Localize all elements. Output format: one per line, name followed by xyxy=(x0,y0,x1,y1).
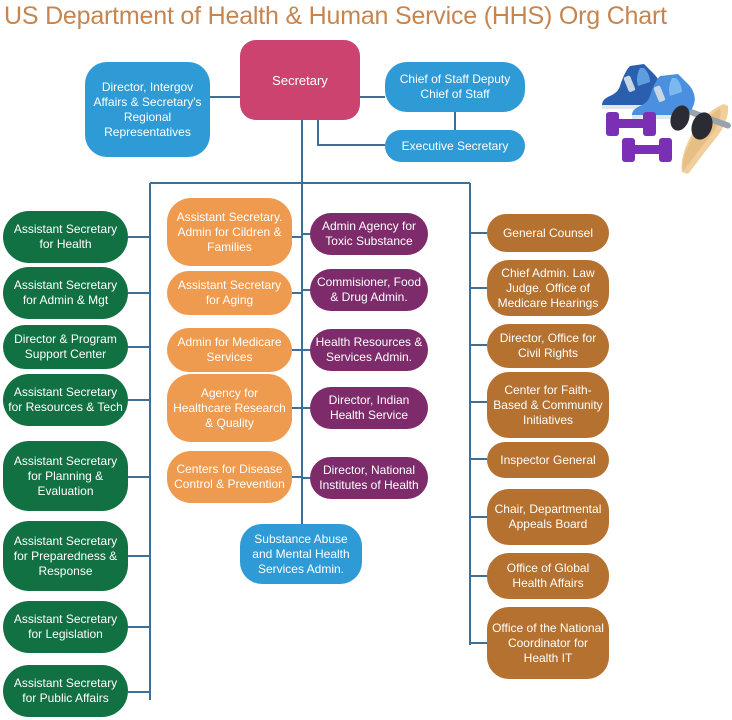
node-director-indian-health-service[interactable]: Director, Indian Health Service xyxy=(310,387,428,429)
node-asst-sec-public-affairs-label: Assistant Secretary for Public Affairs xyxy=(7,676,124,706)
node-director-national-institutes-health-label: Director, National Institutes of Health xyxy=(314,463,424,493)
node-asst-sec-admin-mgt[interactable]: Assistant Secretary for Admin & Mgt xyxy=(3,267,128,319)
node-asst-sec-resources-tech[interactable]: Assistant Secretary for Resources & Tech xyxy=(3,374,128,426)
node-asst-sec-children-families-label: Assistant Secretary. Admin for Cildren &… xyxy=(171,210,288,255)
node-health-resources-services-admin[interactable]: Health Resources & Services Admin. xyxy=(310,329,428,371)
node-secretary-label: Secretary xyxy=(244,73,356,88)
node-admin-medicare-services-label: Admin for Medicare Services xyxy=(171,335,288,365)
node-chief-of-staff-label: Chief of Staff Deputy Chief of Staff xyxy=(389,72,521,102)
node-director-national-institutes-health[interactable]: Director, National Institutes of Health xyxy=(310,457,428,499)
node-admin-agency-toxic-substance-label: Admin Agency for Toxic Substance xyxy=(314,219,424,249)
node-asst-sec-legislation[interactable]: Assistant Secretary for Legislation xyxy=(3,601,128,653)
node-asst-sec-admin-mgt-label: Assistant Secretary for Admin & Mgt xyxy=(7,278,124,308)
node-asst-sec-planning-evaluation-label: Assistant Secretary for Planning & Evalu… xyxy=(7,454,124,499)
node-asst-sec-aging-label: Assistant Secretary for Aging xyxy=(171,278,288,308)
node-health-resources-services-admin-label: Health Resources & Services Admin. xyxy=(314,335,424,365)
node-substance-abuse-mental-health[interactable]: Substance Abuse and Mental Health Servic… xyxy=(240,524,362,584)
node-director-program-support-center[interactable]: Director & Program Support Center xyxy=(3,325,128,369)
node-executive-secretary[interactable]: Executive Secretary xyxy=(385,130,525,162)
dumbbell-icon xyxy=(606,112,672,162)
node-asst-sec-preparedness-response[interactable]: Assistant Secretary for Preparedness & R… xyxy=(3,521,128,591)
node-agency-healthcare-research-quality-label: Agency for Healthcare Research & Quality xyxy=(171,386,288,431)
node-chief-admin-law-judge[interactable]: Chief Admin. Law Judge. Office of Medica… xyxy=(487,260,609,316)
node-centers-disease-control-prevention[interactable]: Centers for Disease Control & Prevention xyxy=(167,451,292,503)
node-director-intergov-affairs-label: Director, Intergov Affairs & Secretary's… xyxy=(89,80,206,140)
node-inspector-general-label: Inspector General xyxy=(491,453,605,468)
node-asst-sec-preparedness-response-label: Assistant Secretary for Preparedness & R… xyxy=(7,534,124,579)
node-center-faith-based-community-label: Center for Faith-Based & Community Initi… xyxy=(491,383,605,428)
node-inspector-general[interactable]: Inspector General xyxy=(487,442,609,478)
node-asst-sec-children-families[interactable]: Assistant Secretary. Admin for Cildren &… xyxy=(167,198,292,266)
node-chief-of-staff[interactable]: Chief of Staff Deputy Chief of Staff xyxy=(385,62,525,112)
node-director-intergov-affairs[interactable]: Director, Intergov Affairs & Secretary's… xyxy=(85,62,210,157)
node-office-global-health-affairs[interactable]: Office of Global Health Affairs xyxy=(487,553,609,599)
node-office-national-coordinator-health-it[interactable]: Office of the National Coordinator for H… xyxy=(487,607,609,679)
node-office-national-coordinator-health-it-label: Office of the National Coordinator for H… xyxy=(491,621,605,666)
node-centers-disease-control-prevention-label: Centers for Disease Control & Prevention xyxy=(171,462,288,492)
hand-dumbbell-icon xyxy=(667,103,732,174)
node-asst-sec-legislation-label: Assistant Secretary for Legislation xyxy=(7,612,124,642)
node-director-program-support-center-label: Director & Program Support Center xyxy=(7,332,124,362)
node-center-faith-based-community[interactable]: Center for Faith-Based & Community Initi… xyxy=(487,372,609,438)
fitness-clipart xyxy=(592,38,732,178)
node-admin-medicare-services[interactable]: Admin for Medicare Services xyxy=(167,328,292,372)
node-director-indian-health-service-label: Director, Indian Health Service xyxy=(314,393,424,423)
node-substance-abuse-mental-health-label: Substance Abuse and Mental Health Servic… xyxy=(244,532,358,577)
org-chart-canvas: US Department of Health & Human Service … xyxy=(0,0,732,720)
node-commissioner-food-drug-admin[interactable]: Commisioner, Food & Drug Admin. xyxy=(310,269,428,311)
node-asst-sec-health-label: Assistant Secretary for Health xyxy=(7,222,124,252)
node-agency-healthcare-research-quality[interactable]: Agency for Healthcare Research & Quality xyxy=(167,374,292,442)
node-asst-sec-resources-tech-label: Assistant Secretary for Resources & Tech xyxy=(7,385,124,415)
node-chair-departmental-appeals-board-label: Chair, Departmental Appeals Board xyxy=(491,502,605,532)
node-office-global-health-affairs-label: Office of Global Health Affairs xyxy=(491,561,605,591)
node-asst-sec-health[interactable]: Assistant Secretary for Health xyxy=(3,211,128,263)
node-secretary[interactable]: Secretary xyxy=(240,40,360,120)
node-executive-secretary-label: Executive Secretary xyxy=(389,139,521,154)
node-chief-admin-law-judge-label: Chief Admin. Law Judge. Office of Medica… xyxy=(491,266,605,311)
node-general-counsel-label: General Counsel xyxy=(491,226,605,241)
node-director-office-civil-rights[interactable]: Director, Office for Civil Rights xyxy=(487,324,609,368)
node-admin-agency-toxic-substance[interactable]: Admin Agency for Toxic Substance xyxy=(310,213,428,255)
node-asst-sec-aging[interactable]: Assistant Secretary for Aging xyxy=(167,271,292,315)
node-chair-departmental-appeals-board[interactable]: Chair, Departmental Appeals Board xyxy=(487,489,609,545)
node-asst-sec-public-affairs[interactable]: Assistant Secretary for Public Affairs xyxy=(3,665,128,717)
node-general-counsel[interactable]: General Counsel xyxy=(487,214,609,252)
node-commissioner-food-drug-admin-label: Commisioner, Food & Drug Admin. xyxy=(314,275,424,305)
node-director-office-civil-rights-label: Director, Office for Civil Rights xyxy=(491,331,605,361)
node-asst-sec-planning-evaluation[interactable]: Assistant Secretary for Planning & Evalu… xyxy=(3,441,128,511)
